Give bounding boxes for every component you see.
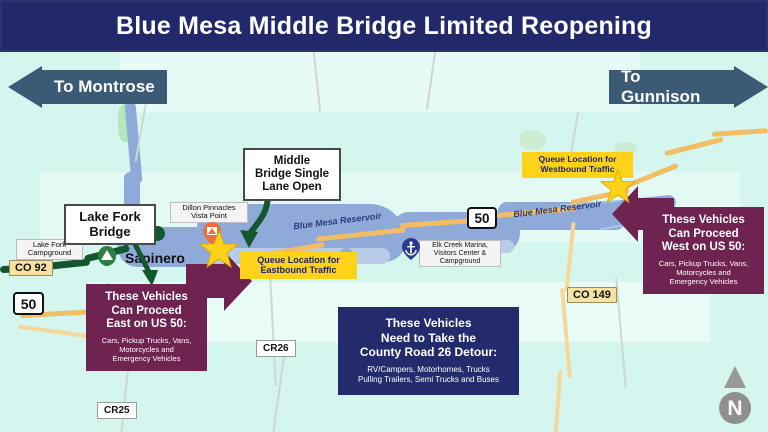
middle-bridge-line2: Bridge Single [249, 168, 335, 181]
proceed-east-box[interactable]: These Vehicles Can Proceed East on US 50… [86, 284, 207, 371]
page-title: Blue Mesa Middle Bridge Limited Reopenin… [116, 12, 652, 41]
shield-cr-25[interactable]: CR25 [97, 402, 137, 419]
eastbound-queue-box[interactable]: Queue Location for Eastbound Traffic [240, 252, 357, 279]
land-patch-north [120, 52, 640, 112]
elk-creek-line1: Elk Creek Marina, [423, 242, 497, 250]
detour-head1: These Vehicles [344, 316, 513, 331]
page-title-bar: Blue Mesa Middle Bridge Limited Reopenin… [0, 0, 768, 52]
forest-area [520, 130, 546, 150]
shield-co-149[interactable]: CO 149 [567, 287, 617, 303]
map-canvas[interactable]: Blue Mesa Reservoir Blue Mesa Reservoir … [0, 52, 768, 432]
lake-fork-campground-line2: Campground [20, 249, 79, 257]
proceed-east-head1: These Vehicles [90, 291, 203, 305]
eastbound-queue-line1: Queue Location for [246, 255, 351, 265]
to-montrose-label-body: To Montrose [42, 70, 167, 104]
eastbound-queue-star-icon [199, 230, 239, 270]
infographic-root: Blue Mesa Middle Bridge Limited Reopenin… [0, 0, 768, 432]
proceed-west-sub2: Motorcycles and [647, 268, 760, 277]
westbound-queue-star-icon [600, 169, 636, 205]
lake-fork-bridge-line1: Lake Fork [69, 210, 151, 225]
to-montrose-arrow[interactable]: To Montrose [8, 66, 167, 108]
detour-head3: County Road 26 Detour: [344, 345, 513, 360]
highway-us50 [712, 128, 768, 137]
elk-creek-line2: Visitors Center & [423, 250, 497, 258]
proceed-west-sub1: Cars, Pickup Trucks, Vans, [647, 259, 760, 268]
dillon-pinnacles-label[interactable]: Dillon Pinnacles Vista Point [170, 202, 248, 223]
proceed-east-sub1: Cars, Pickup Trucks, Vans, [90, 336, 203, 345]
proceed-west-head1: These Vehicles [647, 214, 760, 228]
proceed-east-sub2: Motorcycles and [90, 345, 203, 354]
proceed-east-head3: East on US 50: [90, 318, 203, 332]
arrow-head-left-icon [8, 66, 42, 108]
proceed-west-box[interactable]: These Vehicles Can Proceed West on US 50… [643, 207, 764, 294]
elk-creek-marina-label[interactable]: Elk Creek Marina, Visitors Center & Camp… [419, 240, 501, 267]
proceed-west-sub3: Emergency Vehicles [647, 277, 760, 286]
shield-us-50-east[interactable]: 50 [467, 207, 497, 229]
to-montrose-label: To Montrose [54, 77, 155, 97]
highway-co149 [554, 370, 562, 432]
elk-creek-line3: Campground [423, 258, 497, 266]
to-gunnison-label: To Gunnison [621, 67, 722, 107]
shield-co-92[interactable]: CO 92 [9, 260, 53, 276]
tent-icon [98, 244, 118, 268]
detour-sub2: Pulling Trailers, Semi Trucks and Buses [344, 375, 513, 385]
proceed-east-sub3: Emergency Vehicles [90, 354, 203, 363]
lake-fork-bridge-callout[interactable]: Lake Fork Bridge [64, 204, 156, 245]
proceed-west-head3: West on US 50: [647, 241, 760, 255]
proceed-west-head2: Can Proceed [647, 228, 760, 242]
detour-sub1: RV/Campers, Motorhomes, Trucks [344, 365, 513, 375]
middle-bridge-line3: Lane Open [249, 181, 335, 194]
dillon-pinnacles-line2: Vista Point [174, 212, 244, 220]
anchor-pin-icon [402, 238, 420, 261]
to-gunnison-arrow[interactable]: To Gunnison [609, 66, 768, 108]
north-arrow: N [712, 362, 758, 431]
lake-fork-bridge-line2: Bridge [69, 225, 151, 240]
detour-head2: Need to Take the [344, 331, 513, 346]
to-gunnison-label-body: To Gunnison [609, 70, 734, 104]
shield-cr-26[interactable]: CR26 [256, 340, 296, 357]
proceed-east-head2: Can Proceed [90, 305, 203, 319]
detour-notice-box[interactable]: These Vehicles Need to Take the County R… [338, 307, 519, 395]
svg-text:N: N [727, 397, 742, 420]
arrow-head-right-icon [734, 66, 768, 108]
middle-bridge-callout[interactable]: Middle Bridge Single Lane Open [243, 148, 341, 201]
north-arrow-icon: N [712, 362, 758, 426]
middle-bridge-line1: Middle [249, 155, 335, 168]
highway-us50 [664, 137, 723, 156]
eastbound-queue-line2: Eastbound Traffic [246, 265, 351, 275]
shield-us-50-west[interactable]: 50 [13, 292, 44, 315]
